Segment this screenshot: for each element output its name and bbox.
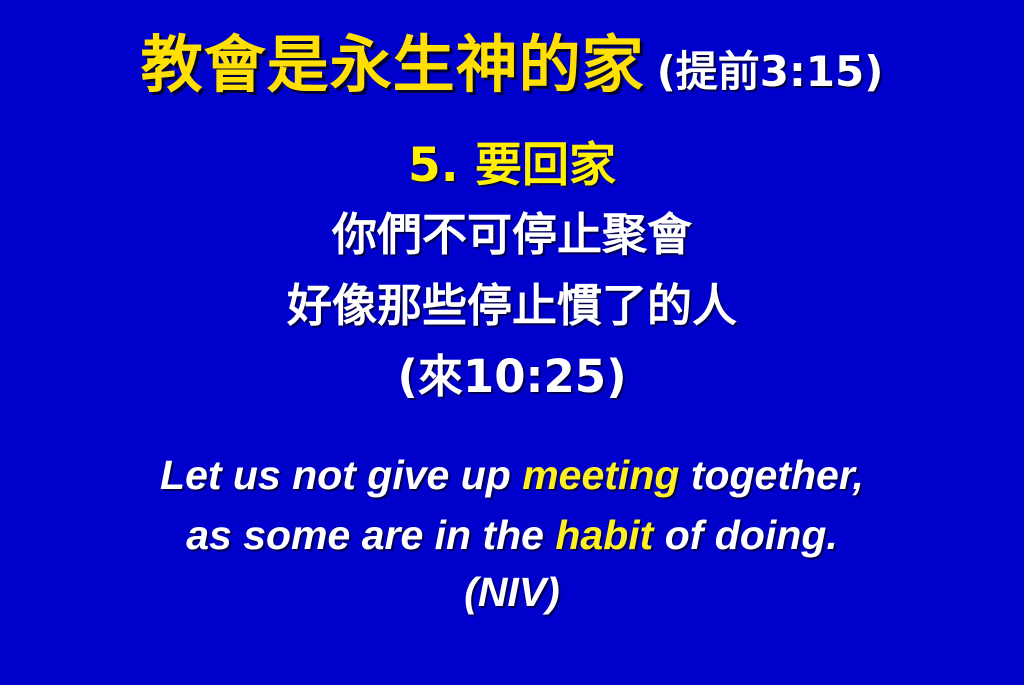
chinese-verse-line-2: 好像那些停止慣了的人 xyxy=(0,283,1024,328)
presentation-slide: 教會是永生神的家(提前3:15) 5. 要回家 你們不可停止聚會 好像那些停止慣… xyxy=(0,0,1024,685)
english-verse-line-1: Let us not give up meeting together, xyxy=(0,455,1024,496)
point-heading: 5. 要回家 xyxy=(0,142,1024,189)
english-line-2-highlight: habit xyxy=(555,512,653,558)
title-chinese-text: 教會是永生神的家 xyxy=(141,28,645,101)
english-line-2-after: of doing. xyxy=(653,512,837,558)
english-verse-translation-label: (NIV) xyxy=(0,572,1024,613)
english-line-1-highlight: meeting xyxy=(522,452,679,498)
english-line-1-before: Let us not give up xyxy=(160,452,522,498)
english-line-2-before: as some are in the xyxy=(186,512,555,558)
chinese-verse-line-1: 你們不可停止聚會 xyxy=(0,212,1024,257)
slide-title: 教會是永生神的家(提前3:15) xyxy=(0,34,1024,96)
english-verse-line-2: as some are in the habit of doing. xyxy=(0,515,1024,556)
title-scripture-reference: (提前3:15) xyxy=(657,47,884,96)
english-line-1-after: together, xyxy=(679,452,864,498)
chinese-verse-reference: (來10:25) xyxy=(0,354,1024,399)
